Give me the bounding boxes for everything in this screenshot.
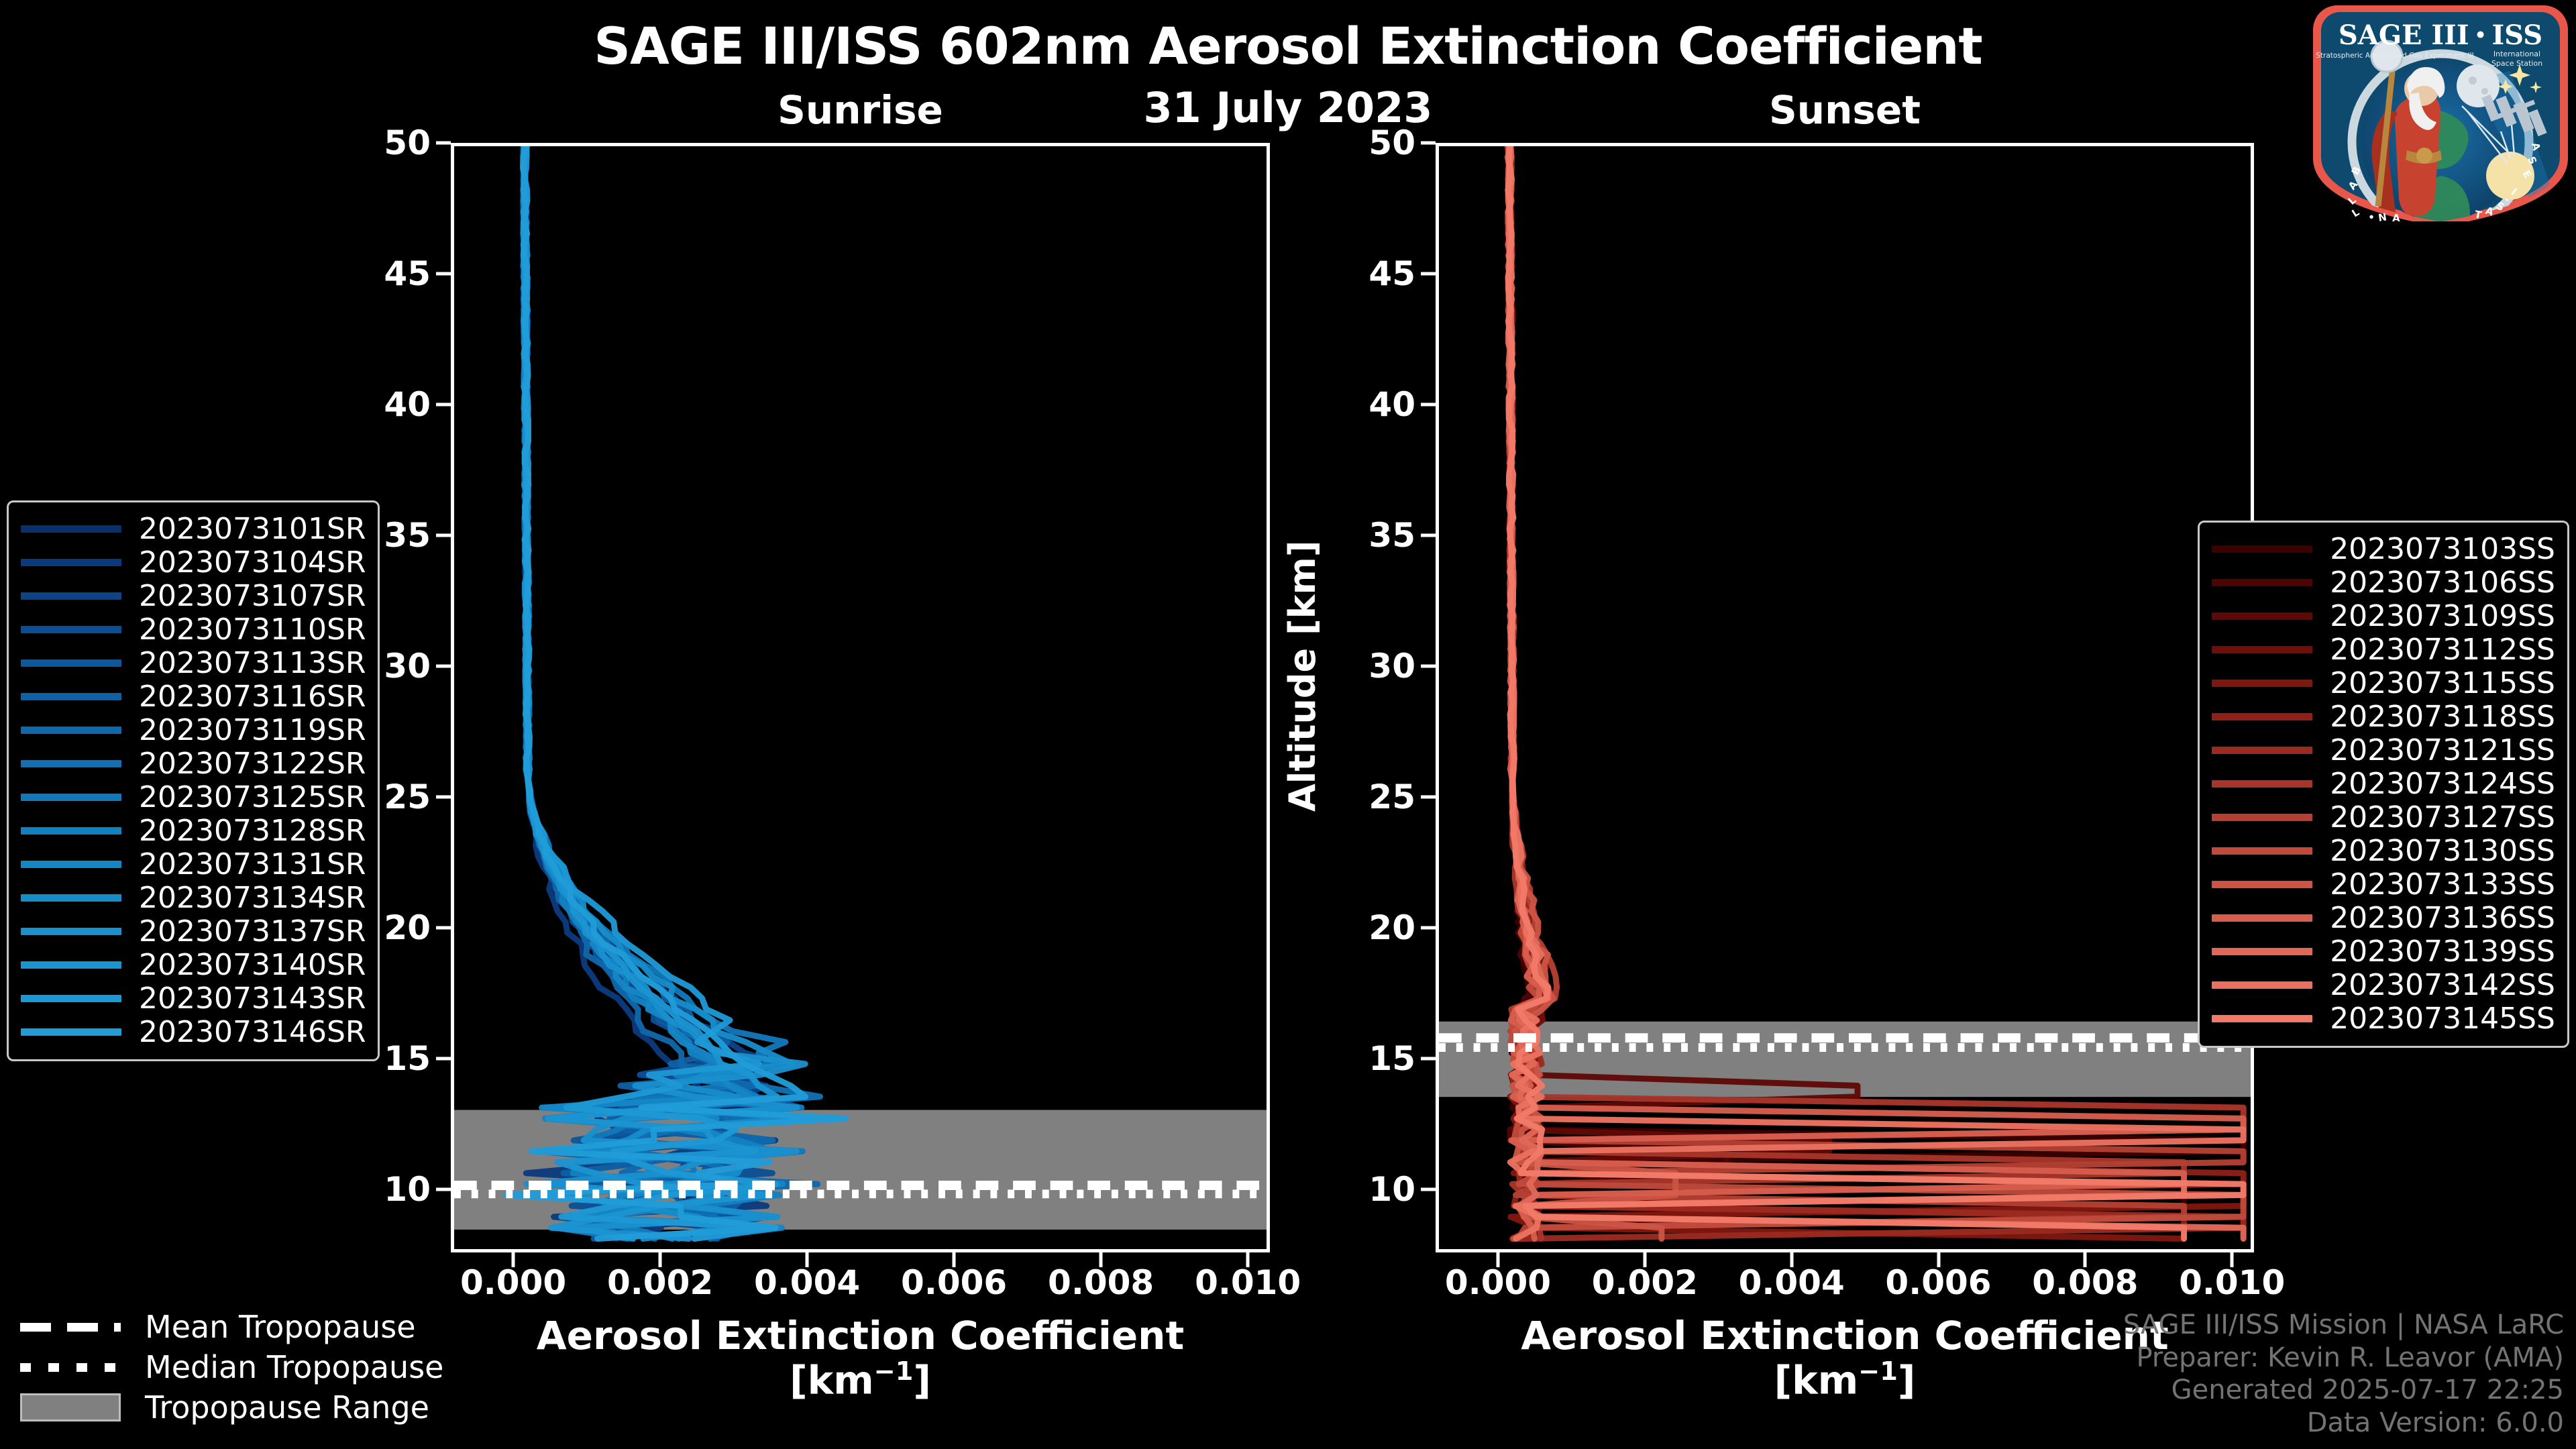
legend-sunrise-event-label: 2023073104SR: [139, 545, 366, 580]
legend-sunset-event-label: 2023073130SS: [2330, 834, 2555, 868]
x-tick-label: 0.008: [1048, 1263, 1154, 1302]
legend-sunset-event-color-swatch: [2212, 713, 2312, 720]
legend-sunrise-event-label: 2023073116SR: [139, 680, 366, 714]
x-tick-mark: [2084, 1252, 2087, 1267]
legend-sunrise-event-color-swatch: [21, 961, 121, 969]
legend-sunset-event-color-swatch: [2212, 747, 2312, 754]
legend-sunset-event-color-swatch: [2212, 847, 2312, 855]
legend-item-tropopause-range: Tropopause Range: [20, 1387, 443, 1428]
median-tropopause-label: Median Tropopause: [145, 1349, 443, 1385]
y-tick-label: 10: [350, 1170, 431, 1209]
y-tick-mark: [436, 926, 451, 930]
x-tick-mark: [1099, 1252, 1103, 1267]
legend-sunset-event-color-swatch: [2212, 814, 2312, 821]
x-tick-label: 0.002: [607, 1263, 713, 1302]
legend-sunset-event-color-swatch: [2212, 579, 2312, 586]
legend-sunrise-event-label: 2023073113SR: [139, 646, 366, 680]
legend-sunrise-event-color-swatch: [21, 995, 121, 1002]
legend-sunset-event-label: 2023073124SS: [2330, 767, 2555, 801]
legend-sunset-event-label: 2023073109SS: [2330, 599, 2555, 633]
legend-sunset-event-item[interactable]: 2023073130SS: [2212, 834, 2555, 867]
x-tick-mark: [953, 1252, 956, 1267]
y-tick-mark: [436, 142, 451, 145]
legend-sunset-event-label: 2023073121SS: [2330, 733, 2555, 767]
legend-sunrise-event-color-swatch: [21, 727, 121, 734]
credit-data-version: Data Version: 6.0.0: [2123, 1407, 2564, 1440]
x-tick-label: 0.008: [2032, 1263, 2138, 1302]
legend-sunrise-event-color-swatch: [21, 592, 121, 600]
y-tick-mark: [436, 665, 451, 668]
y-tick-mark: [1421, 796, 1436, 799]
x-tick-mark: [1790, 1252, 1793, 1267]
panel-label-sunset: Sunset: [1436, 87, 2254, 133]
legend-sunset-event-label: 2023073145SS: [2330, 1002, 2555, 1036]
legend-sunset-event-color-swatch: [2212, 646, 2312, 653]
y-tick-label: 25: [1335, 777, 1415, 816]
legend-sunset-event-item[interactable]: 2023073118SS: [2212, 700, 2555, 733]
legend-sunset-event-label: 2023073103SS: [2330, 532, 2555, 566]
plot-panel-sunset[interactable]: [1436, 143, 2254, 1252]
y-tick-mark: [436, 534, 451, 537]
x-tick-label: 0.006: [901, 1263, 1007, 1302]
y-tick-label: 45: [1335, 254, 1415, 293]
sage-iii-iss-logo: SAGE III•ISS Stratospheric Aerosol and G…: [2309, 0, 2572, 221]
legend-sunset-event-color-swatch: [2212, 881, 2312, 888]
y-tick-label: 20: [1335, 908, 1415, 947]
legend-sunset-event-item[interactable]: 2023073124SS: [2212, 767, 2555, 800]
legend-sunrise-event-item[interactable]: 2023073122SR: [21, 747, 366, 780]
legend-sunrise-event-item[interactable]: 2023073104SR: [21, 545, 366, 579]
legend-sunset-event-label: 2023073118SS: [2330, 700, 2555, 734]
svg-text:•: •: [2367, 211, 2376, 221]
y-tick-label: 40: [1335, 385, 1415, 424]
y-tick-label: 15: [1335, 1039, 1415, 1078]
x-axis-label-text: Aerosol Extinction Coefficient: [451, 1314, 1270, 1358]
legend-sunrise-event-item[interactable]: 2023073119SR: [21, 713, 366, 747]
x-tick-label: 0.000: [1445, 1263, 1551, 1302]
logo-subtitle-left: Stratospheric Aerosol and Gas Experiment…: [2316, 52, 2474, 60]
logo-subtitle-right-1: International: [2493, 50, 2540, 58]
y-tick-mark: [436, 403, 451, 407]
legend-sunset-event-item[interactable]: 2023073106SS: [2212, 566, 2555, 599]
legend-sunset-event-color-swatch: [2212, 981, 2312, 989]
legend-sunset-event-item[interactable]: 2023073136SS: [2212, 901, 2555, 934]
legend-sunrise-event-item[interactable]: 2023073140SR: [21, 948, 366, 981]
legend-sunset-event-item[interactable]: 2023073145SS: [2212, 1002, 2555, 1035]
x-tick-label: 0.006: [1885, 1263, 1991, 1302]
legend-sunset-event-label: 2023073112SS: [2330, 633, 2555, 667]
x-tick-mark: [1937, 1252, 1940, 1267]
logo-title-text: SAGE III•ISS: [2339, 19, 2542, 51]
legend-sunrise-event-color-swatch: [21, 693, 121, 700]
legend-item-mean-tropopause: Mean Tropopause: [20, 1307, 443, 1347]
legend-sunset-event-color-swatch: [2212, 780, 2312, 788]
page-title: SAGE III/ISS 602nm Aerosol Extinction Co…: [0, 16, 2576, 76]
y-axis-label: Altitude [km]: [1281, 541, 1324, 812]
legend-sunset-event-item[interactable]: 2023073109SS: [2212, 599, 2555, 633]
y-tick-mark: [1421, 272, 1436, 276]
legend-sunrise-event-label: 2023073125SR: [139, 780, 366, 814]
svg-text:A: A: [2392, 212, 2401, 221]
legend-sunrise-event-label: 2023073146SR: [139, 1015, 366, 1049]
credit-preparer: Preparer: Kevin R. Leavor (AMA): [2123, 1342, 2564, 1375]
legend-sunrise-event-label: 2023073140SR: [139, 948, 366, 982]
x-tick-mark: [659, 1252, 662, 1267]
legend-sunrise-event-label: 2023073128SR: [139, 814, 366, 848]
legend-sunset-event-item[interactable]: 2023073103SS: [2212, 532, 2555, 566]
legend-sunset-event-label: 2023073139SS: [2330, 934, 2555, 969]
y-tick-label: 40: [350, 385, 431, 424]
legend-sunrise-event-label: 2023073110SR: [139, 612, 366, 647]
legend-sunset-event-item[interactable]: 2023073133SS: [2212, 867, 2555, 901]
legend-sunrise-event-label: 2023073143SR: [139, 981, 366, 1016]
legend-sunrise-event-label: 2023073137SR: [139, 914, 366, 949]
tropopause-legend: Mean Tropopause Median Tropopause Tropop…: [20, 1307, 443, 1428]
legend-sunset-event-item[interactable]: 2023073139SS: [2212, 934, 2555, 968]
legend-sunrise-event-item[interactable]: 2023073128SR: [21, 814, 366, 847]
legend-sunrise-event-color-swatch: [21, 559, 121, 566]
x-tick-mark: [2231, 1252, 2234, 1267]
legend-sunrise-event-color-swatch: [21, 827, 121, 835]
legend-sunset-event-item[interactable]: 2023073142SS: [2212, 968, 2555, 1002]
legend-sunrise[interactable]: 2023073101SR2023073104SR2023073107SR2023…: [7, 500, 380, 1061]
y-tick-mark: [1421, 926, 1436, 930]
legend-sunrise-event-color-swatch: [21, 894, 121, 902]
legend-sunrise-event-item[interactable]: 2023073134SR: [21, 881, 366, 914]
x-tick-mark: [806, 1252, 809, 1267]
y-tick-label: 10: [1335, 1170, 1415, 1209]
credits-block: SAGE III/ISS Mission | NASA LaRC Prepare…: [2123, 1309, 2564, 1440]
logo-title-iss: ISS: [2491, 19, 2542, 51]
legend-sunset-event-color-swatch: [2212, 680, 2312, 687]
legend-sunrise-event-item[interactable]: 2023073107SR: [21, 579, 366, 612]
legend-sunset-event-item[interactable]: 2023073112SS: [2212, 633, 2555, 666]
sage-logo-svg: SAGE III•ISS Stratospheric Aerosol and G…: [2309, 0, 2572, 221]
legend-sunrise-event-color-swatch: [21, 928, 121, 935]
legend-sunrise-event-item[interactable]: 2023073146SR: [21, 1015, 366, 1049]
legend-sunset[interactable]: 2023073103SS2023073106SS2023073109SS2023…: [2198, 521, 2569, 1048]
legend-sunrise-event-item[interactable]: 2023073110SR: [21, 612, 366, 646]
sunrise-profile-canvas: [454, 146, 1267, 1249]
legend-sunrise-event-item[interactable]: 2023073116SR: [21, 680, 366, 713]
x-tick-label: 0.000: [460, 1263, 566, 1302]
y-tick-label: 35: [1335, 516, 1415, 555]
sunset-profile-canvas: [1439, 146, 2251, 1249]
legend-sunrise-event-color-swatch: [21, 794, 121, 801]
x-tick-mark: [1643, 1252, 1646, 1267]
legend-sunset-event-label: 2023073106SS: [2330, 566, 2555, 600]
y-tick-mark: [436, 272, 451, 276]
svg-text:N: N: [2377, 211, 2387, 221]
logo-moon-crater-2: [2481, 88, 2488, 95]
y-tick-label: 50: [1335, 123, 1415, 162]
legend-sunset-event-color-swatch: [2212, 914, 2312, 922]
logo-subtitle-right-2: Space Station: [2491, 59, 2542, 68]
legend-sunset-event-color-swatch: [2212, 1015, 2312, 1022]
plot-panel-sunrise[interactable]: [451, 143, 1270, 1252]
logo-moon: [2457, 64, 2500, 107]
legend-sunset-event-label: 2023073115SS: [2330, 666, 2555, 700]
legend-sunset-event-label: 2023073142SS: [2330, 968, 2555, 1002]
x-tick-mark: [1246, 1252, 1250, 1267]
legend-sunrise-event-item[interactable]: 2023073131SR: [21, 847, 366, 881]
y-tick-mark: [1421, 142, 1436, 145]
mean-tropopause-label: Mean Tropopause: [145, 1309, 416, 1345]
x-tick-label: 0.004: [1739, 1263, 1845, 1302]
legend-sunrise-event-color-swatch: [21, 861, 121, 868]
legend-sunrise-event-color-swatch: [21, 760, 121, 767]
legend-sunrise-event-item[interactable]: 2023073101SR: [21, 512, 366, 545]
legend-sunrise-event-item[interactable]: 2023073143SR: [21, 981, 366, 1015]
credit-generated: Generated 2025-07-17 22:25: [2123, 1374, 2564, 1407]
y-tick-mark: [436, 1188, 451, 1191]
legend-sunset-event-label: 2023073136SS: [2330, 901, 2555, 935]
legend-sunset-event-color-swatch: [2212, 612, 2312, 620]
legend-sunset-event-label: 2023073127SS: [2330, 800, 2555, 835]
legend-sunset-event-item[interactable]: 2023073121SS: [2212, 733, 2555, 767]
logo-title-sage: SAGE III: [2339, 19, 2469, 51]
legend-sunrise-event-label: 2023073107SR: [139, 579, 366, 613]
legend-sunset-event-label: 2023073133SS: [2330, 867, 2555, 902]
y-tick-mark: [1421, 665, 1436, 668]
y-tick-mark: [1421, 1188, 1436, 1191]
legend-sunrise-event-label: 2023073131SR: [139, 847, 366, 881]
legend-sunrise-event-item[interactable]: 2023073125SR: [21, 780, 366, 814]
y-tick-mark: [436, 1057, 451, 1061]
x-axis-label-unit: [km−1]: [451, 1358, 1270, 1402]
legend-sunset-event-item[interactable]: 2023073115SS: [2212, 666, 2555, 700]
legend-sunrise-event-color-swatch: [21, 626, 121, 633]
x-tick-label: 0.004: [754, 1263, 860, 1302]
x-axis-label: Aerosol Extinction Coefficient[km−1]: [451, 1314, 1270, 1402]
legend-sunrise-event-label: 2023073122SR: [139, 747, 366, 781]
legend-item-median-tropopause: Median Tropopause: [20, 1347, 443, 1387]
y-tick-label: 45: [350, 254, 431, 293]
legend-sunrise-event-item[interactable]: 2023073137SR: [21, 914, 366, 948]
y-tick-mark: [436, 796, 451, 799]
x-tick-label: 0.010: [1195, 1263, 1301, 1302]
tropopause-range-swatch-icon: [20, 1393, 127, 1421]
x-tick-label: 0.010: [2179, 1263, 2285, 1302]
legend-sunset-event-color-swatch: [2212, 545, 2312, 553]
legend-sunset-event-color-swatch: [2212, 948, 2312, 955]
median-tropopause-line-icon: [20, 1363, 127, 1372]
x-tick-label: 0.002: [1592, 1263, 1698, 1302]
x-tick-mark: [512, 1252, 515, 1267]
y-tick-mark: [1421, 403, 1436, 407]
tropopause-range-label: Tropopause Range: [145, 1389, 429, 1426]
y-tick-mark: [1421, 1057, 1436, 1061]
panel-label-sunrise: Sunrise: [451, 87, 1270, 133]
legend-sunrise-event-color-swatch: [21, 1028, 121, 1036]
y-tick-label: 50: [350, 123, 431, 162]
legend-sunrise-event-color-swatch: [21, 525, 121, 533]
legend-sunrise-event-label: 2023073119SR: [139, 713, 366, 747]
svg-text:L: L: [2350, 206, 2362, 220]
legend-sunrise-event-color-swatch: [21, 659, 121, 667]
legend-sunrise-event-label: 2023073134SR: [139, 881, 366, 915]
y-tick-label: 30: [1335, 647, 1415, 686]
y-tick-mark: [1421, 534, 1436, 537]
credit-mission: SAGE III/ISS Mission | NASA LaRC: [2123, 1309, 2564, 1342]
legend-sunrise-event-item[interactable]: 2023073113SR: [21, 646, 366, 680]
logo-moon-crater-1: [2469, 76, 2477, 85]
legend-sunset-event-item[interactable]: 2023073127SS: [2212, 800, 2555, 834]
x-tick-mark: [1497, 1252, 1500, 1267]
legend-sunrise-event-label: 2023073101SR: [139, 512, 366, 546]
mean-tropopause-line-icon: [20, 1323, 127, 1332]
